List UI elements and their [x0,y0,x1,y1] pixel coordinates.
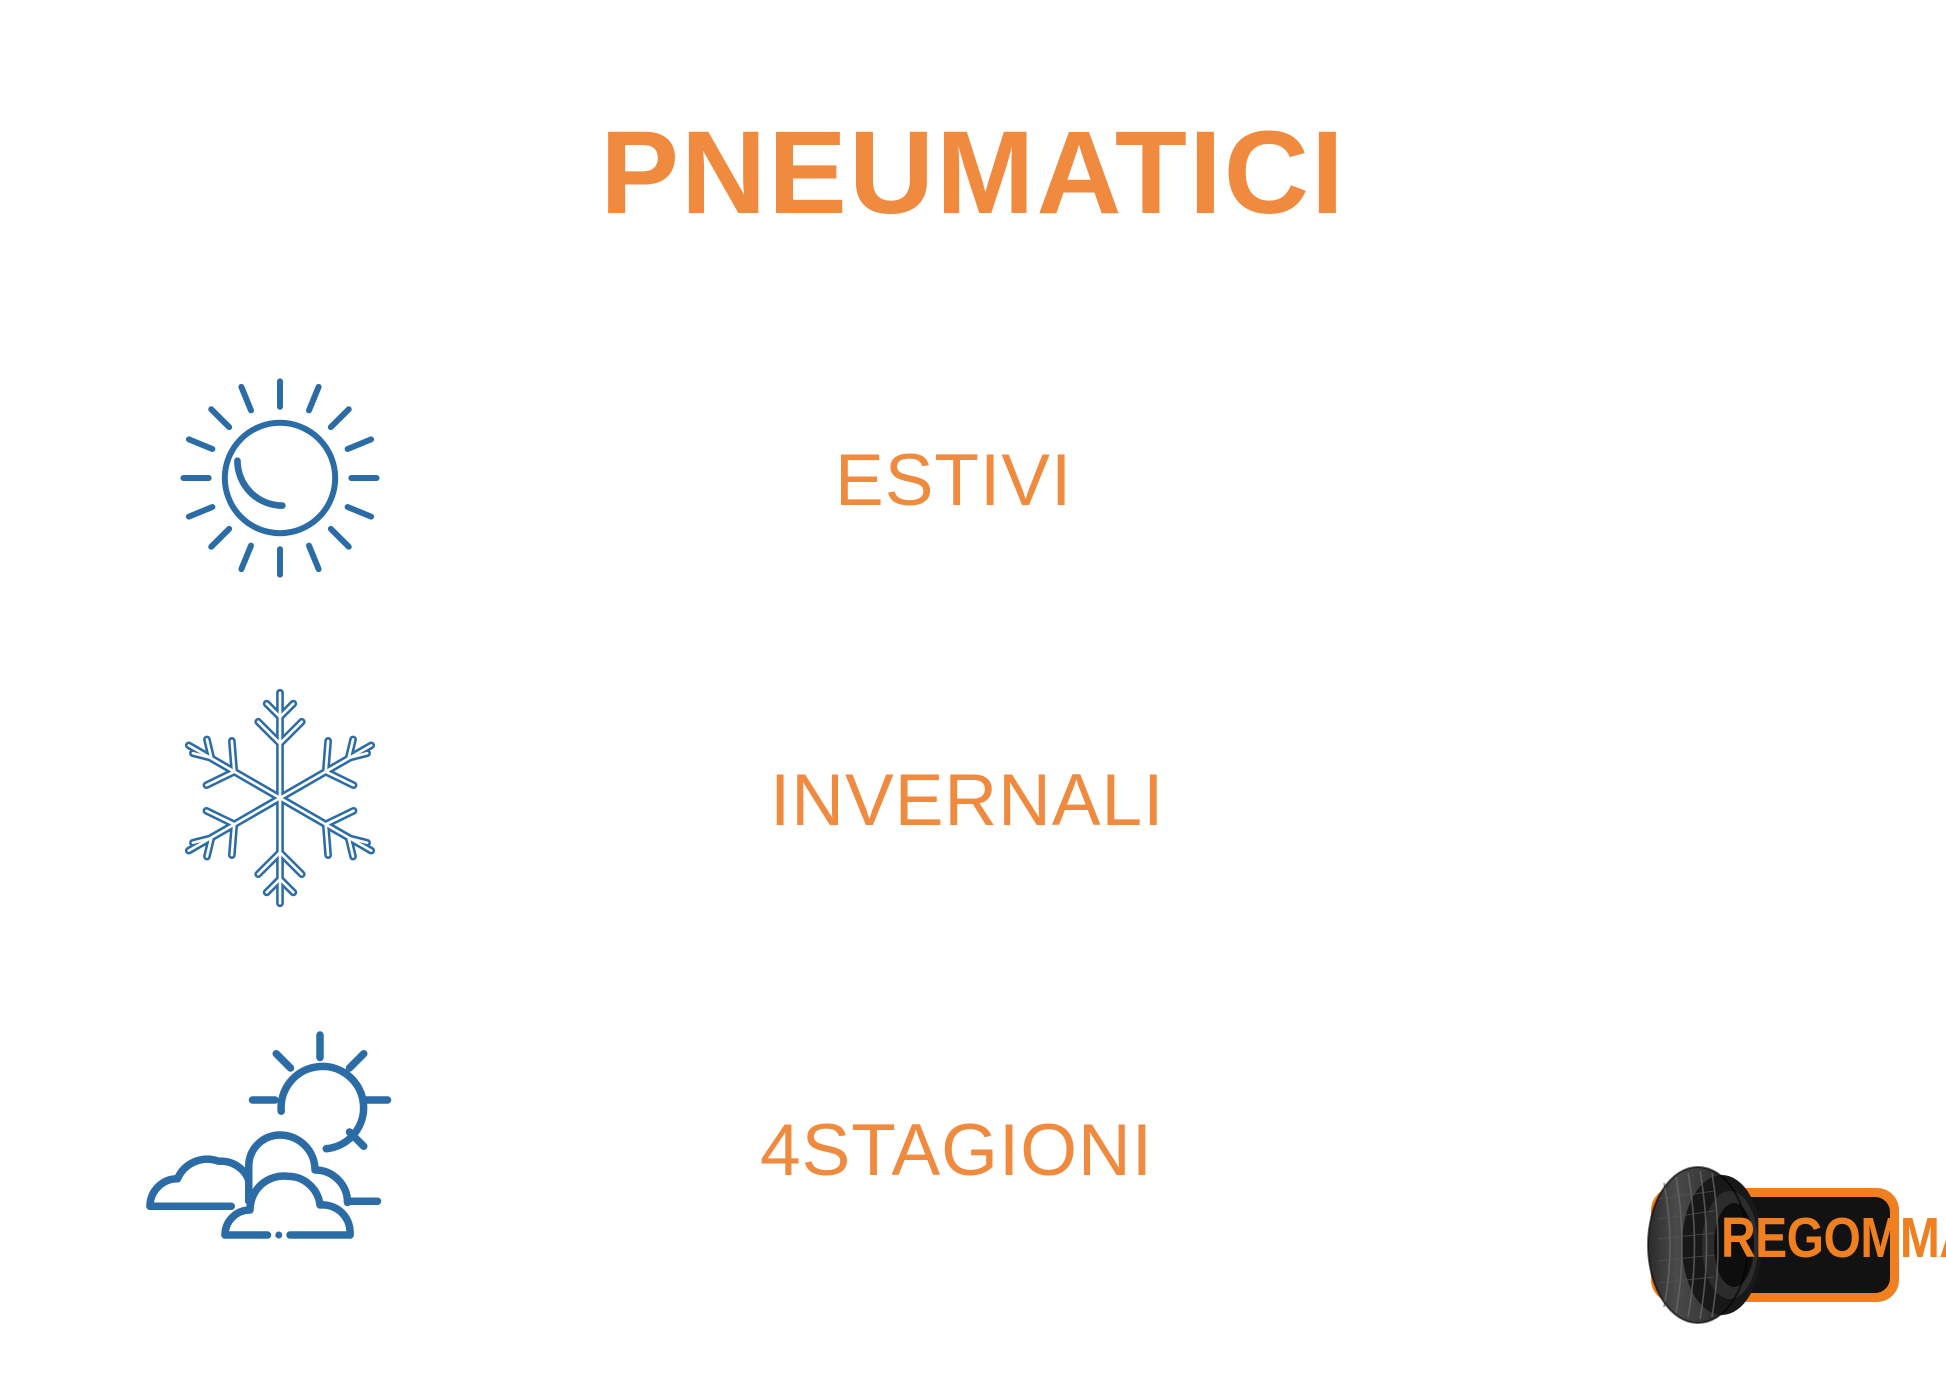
invernali-label-cell: INVERNALI [560,764,1164,837]
snowflake-icon [159,671,401,930]
estivi-label-cell: ESTIVI [560,444,1072,517]
poster-canvas: PNEUMATICI [0,0,1946,1376]
snowflake-icon-cell [0,650,560,950]
list-item: ESTIVI [0,330,1946,630]
regomma-logo[interactable]: REGOMMA [1618,1139,1918,1354]
quattro-stagioni-label-cell: 4STAGIONI [560,1114,1153,1187]
page-title: PNEUMATICI [0,114,1946,232]
list-item: INVERNALI [0,650,1946,950]
sun-behind-clouds-icon [135,1020,425,1280]
list-item-label: INVERNALI [770,764,1164,837]
sun-behind-clouds-icon-cell [0,1000,560,1300]
list-item-label: ESTIVI [835,444,1072,517]
sun-icon-cell [0,330,560,630]
sun-icon [165,363,395,598]
list-item-label: 4STAGIONI [760,1114,1153,1187]
